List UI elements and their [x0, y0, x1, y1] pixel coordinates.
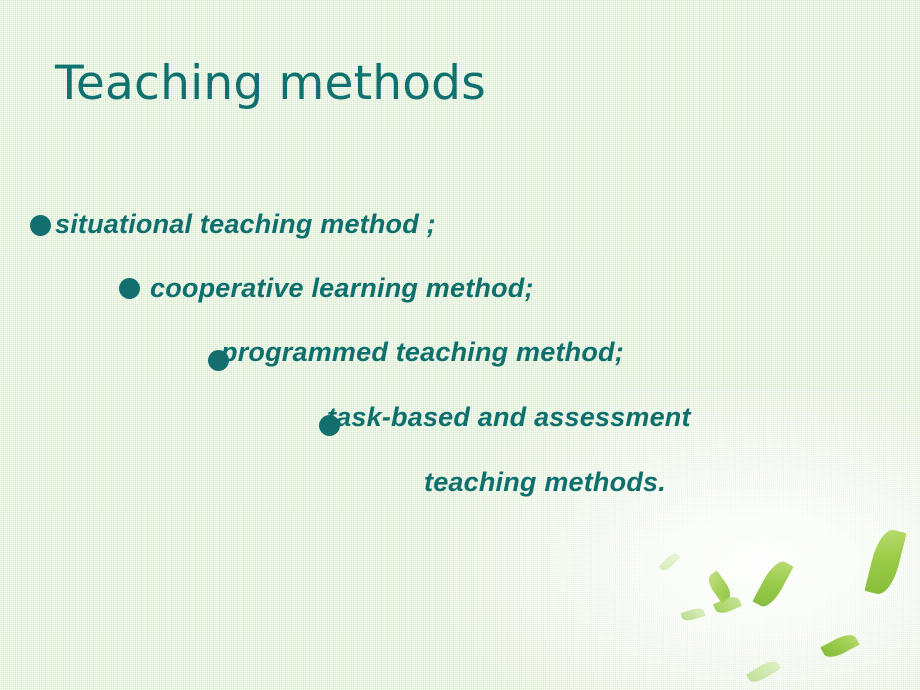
bullet-text: cooperative learning method;: [150, 273, 534, 303]
bullet-line-5: teaching methods.: [424, 467, 666, 498]
bullet-line-3: programmed teaching method;: [221, 337, 624, 368]
slide-canvas: Teaching methods situational teaching me…: [0, 0, 920, 690]
page-title: Teaching methods: [55, 56, 486, 111]
leaf-icon: [864, 527, 906, 598]
bullet-dot-icon: [30, 215, 51, 236]
bullet-line-4: task-based and assessment: [327, 402, 691, 433]
leaf-icon: [746, 657, 781, 686]
leaf-icon: [752, 557, 793, 611]
bullet-dot-icon: [119, 278, 140, 299]
bullet-text: situational teaching method ;: [55, 209, 436, 239]
leaf-icon: [659, 551, 681, 573]
bullet-line-2: cooperative learning method;: [150, 273, 534, 304]
bullet-line-1: situational teaching method ;: [55, 209, 436, 240]
leaf-icon: [820, 630, 859, 661]
bullet-text: task-based and assessment: [327, 402, 691, 432]
leaf-icon: [681, 606, 706, 623]
bullet-text: teaching methods.: [424, 467, 666, 497]
bullet-text: programmed teaching method;: [221, 337, 624, 367]
